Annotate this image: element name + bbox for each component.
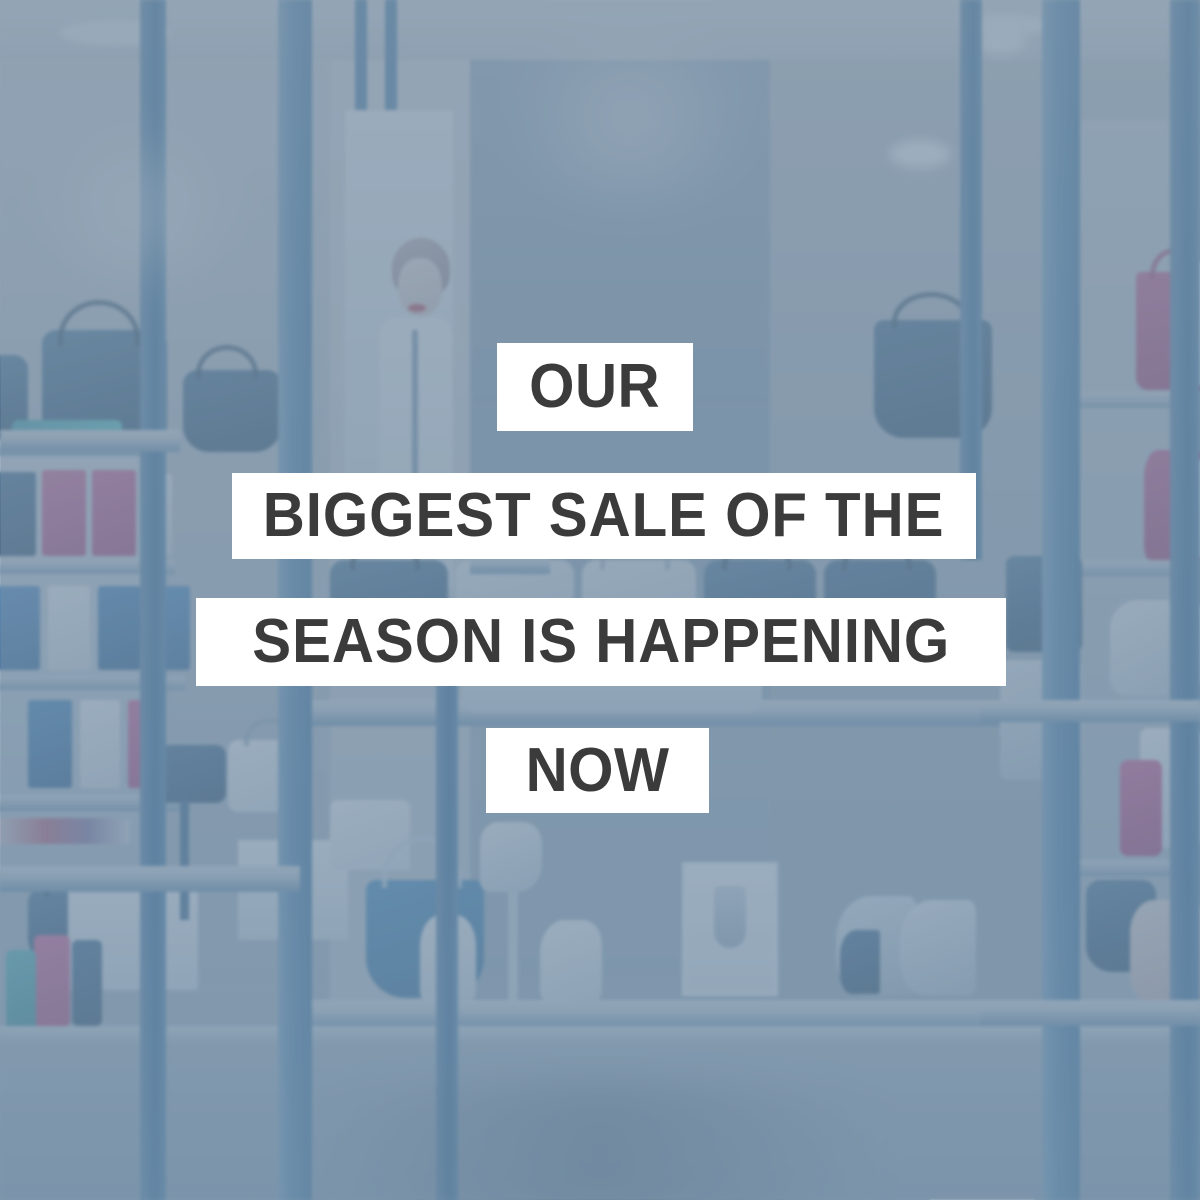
headline-line-2: BIGGEST SALE OF THE	[232, 473, 976, 559]
promo-banner: OUR BIGGEST SALE OF THE SEASON IS HAPPEN…	[0, 0, 1200, 1200]
headline-line-4-text: NOW	[526, 740, 670, 802]
headline-line-2-text: BIGGEST SALE OF THE	[263, 485, 945, 547]
headline-line-4: NOW	[486, 728, 709, 813]
headline-line-1-text: OUR	[530, 356, 661, 418]
headline-line-3-text: SEASON IS HAPPENING	[252, 611, 950, 673]
headline-line-1: OUR	[497, 343, 693, 431]
headline-line-3: SEASON IS HAPPENING	[196, 598, 1006, 686]
headline-group: OUR BIGGEST SALE OF THE SEASON IS HAPPEN…	[0, 0, 1200, 1200]
